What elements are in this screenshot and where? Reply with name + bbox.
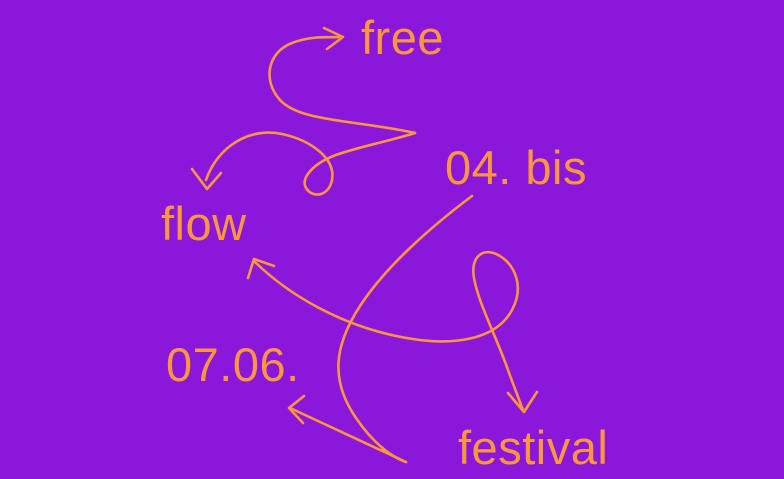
word-07-06: 07.06. [166, 341, 300, 388]
word-festival: festival [458, 424, 608, 471]
word-free: free [361, 14, 444, 61]
bis-sweep-curve-stroke [338, 196, 472, 462]
loop-curve-to-flow-stroke [206, 133, 415, 195]
word-04-bis: 04. bis [445, 144, 587, 191]
line-to-0706-stroke [290, 408, 406, 462]
poster-canvas: free 04. bis flow 07.06. festival [0, 0, 784, 479]
decorative-arrow-graphics [0, 0, 784, 479]
arrowhead-0706-icon [289, 396, 304, 423]
arrowhead-festival-icon [508, 392, 537, 412]
word-flow: flow [161, 200, 247, 247]
